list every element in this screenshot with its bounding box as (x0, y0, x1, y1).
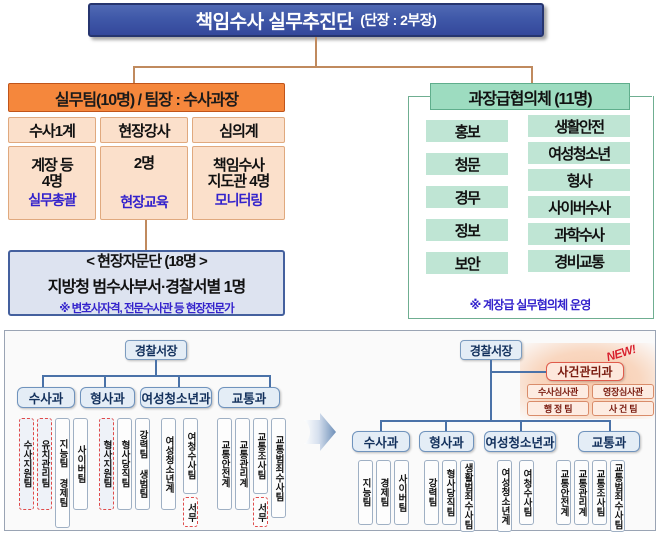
before-chief: 경찰서장 (125, 340, 187, 360)
council-left-item-0: 홍보 (426, 120, 508, 142)
connector-to-advisory (145, 220, 147, 250)
org-chart-page: 책임수사 실무추진단 (단장 : 2부장) 실무팀(10명) / 팀장 : 수사… (0, 0, 660, 535)
after-dept-0: 수사과 (352, 431, 410, 452)
after-team-2-1: 여청수사팀 (519, 460, 534, 525)
after-new-cell-0: 수사심사관 (527, 384, 589, 399)
work-team-body-line1-2: 책임수사 (213, 158, 264, 174)
before-dept-bus (42, 375, 270, 377)
after-dept-1: 형사과 (419, 431, 474, 452)
before-team-0-1: 유치관리팀 (37, 418, 52, 510)
council-right-item-4: 과학수사 (528, 223, 630, 245)
after-team-3-0: 교통안전계 (556, 460, 571, 525)
council-right-item-0: 생활안전 (528, 115, 630, 137)
before-team-3-1: 교통관리계 (235, 418, 250, 510)
council-note: ※ 계장급 실무협의체 운영 (430, 296, 630, 312)
after-dept-2: 여성청소년과 (484, 431, 556, 452)
before-team-2-1: 여청수사팀 (183, 418, 198, 494)
after-dept-bus (380, 420, 610, 422)
work-team-body-line1-0: 계장 등 (31, 158, 73, 174)
before-team-3-0: 교통안전계 (217, 418, 232, 510)
work-team-header: 실무팀(10명) / 팀장 : 수사과장 (8, 83, 285, 112)
transition-arrow-icon (300, 410, 340, 455)
page-title: 책임수사 실무추진단 (단장 : 2부장) (88, 3, 544, 37)
work-team-tag-0: 실무총괄 (28, 192, 76, 208)
page-title-sub: (단장 : 2부장) (360, 10, 436, 30)
council-left-item-3: 정보 (426, 219, 508, 241)
after-new-cell-1: 영장심사관 (592, 384, 654, 399)
council-right-item-3: 사이버수사 (528, 196, 630, 218)
work-team-col-head-2: 심의계 (192, 117, 285, 143)
before-team-1-2: 강력팀 생범팀 (135, 418, 150, 510)
before-dept-0: 수사과 (17, 387, 75, 408)
after-chief-down (490, 371, 492, 421)
work-team-col-head-0: 수사1계 (8, 117, 96, 143)
after-team-0-0: 지능팀 (358, 460, 373, 525)
connector-to-work-team (133, 66, 135, 84)
before-team-3-2: 교통조사팀 (253, 418, 268, 494)
before-team-0-3: 사이버팀 (73, 418, 88, 510)
work-team-tag-2: 모니터링 (215, 192, 263, 208)
after-team-1-2: 생활범죄수사팀 (460, 460, 475, 532)
council-left-item-2: 경무 (426, 186, 508, 208)
before-team-1-1: 형사당직팀 (117, 418, 132, 510)
page-title-main: 책임수사 실무추진단 (196, 7, 354, 34)
before-dept-1: 형사과 (80, 387, 135, 408)
before-team-3-2-sub: 서무 (253, 497, 268, 527)
council-left-item-1: 청문 (426, 153, 508, 175)
connector-horizontal-main (133, 66, 533, 68)
council-left-item-4: 보안 (426, 252, 508, 274)
advisory-line-2: 지방청 범수사부서·경찰서별 1명 (48, 273, 245, 297)
council-frame-top-left (408, 96, 431, 97)
before-dept-3: 교통과 (218, 387, 280, 408)
council-right-item-2: 형사 (528, 169, 630, 191)
before-team-0-0: 수사지원팀 (19, 418, 34, 510)
before-dept-2: 여성청소년과 (140, 387, 212, 408)
after-team-3-3: 교통범죄수사팀 (610, 460, 625, 532)
after-team-3-1: 교통관리계 (574, 460, 589, 525)
connector-vertical-main (315, 37, 317, 67)
after-team-2-0: 여성청소년계 (497, 460, 512, 532)
work-team-col-body-1: 2명 현장교육 (100, 146, 188, 220)
advisory-line-1: < 현장자문단 (18명 > (86, 250, 207, 271)
advisory-line-3: ※ 변호사자격, 전문수사관 등 현장전문가 (59, 300, 233, 316)
after-chief: 경찰서장 (460, 340, 522, 360)
council-frame-top-right (629, 96, 652, 97)
work-team-col-body-0: 계장 등 4명 실무총괄 (8, 146, 96, 220)
work-team-body-line2-2: 지도관 4명 (208, 174, 270, 190)
work-team-body-line1-1: 2명 (134, 156, 154, 172)
after-new-cell-3: 사 건 팀 (592, 401, 654, 416)
after-team-3-2: 교통조사팀 (592, 460, 607, 525)
work-team-col-head-1: 현장강사 (100, 117, 188, 143)
council-right-item-5: 경비교통 (528, 250, 630, 272)
work-team-tag-1: 현장교육 (120, 194, 168, 210)
before-team-0-2: 지능팀 경제팀 (55, 418, 70, 528)
after-newdept-link (490, 371, 548, 373)
before-team-3-3: 교통범죄수사팀 (271, 418, 286, 518)
after-team-0-1: 경제팀 (376, 460, 391, 525)
council-right-item-1: 여성청소년 (528, 142, 630, 164)
advisory-box: < 현장자문단 (18명 > 지방청 범수사부서·경찰서별 1명 ※ 변호사자격… (8, 250, 285, 316)
after-new-cell-2: 행 정 팀 (527, 401, 589, 416)
after-team-1-0: 강력팀 (424, 460, 439, 525)
before-chief-stem (155, 360, 157, 376)
work-team-col-body-2: 책임수사 지도관 4명 모니터링 (192, 146, 285, 220)
after-dept-3: 교통과 (578, 431, 640, 452)
after-new-dept: 사건관리과 (546, 362, 624, 381)
work-team-body-line2-0: 4명 (42, 174, 62, 190)
before-team-2-1-sub: 서무 (183, 497, 198, 527)
after-team-1-1: 형사당직팀 (442, 460, 457, 525)
before-team-1-0: 형사지원팀 (99, 418, 114, 510)
connector-to-council (531, 66, 533, 84)
after-team-0-2: 사이버팀 (394, 460, 409, 525)
before-team-2-0: 여성청소년계 (161, 418, 176, 510)
